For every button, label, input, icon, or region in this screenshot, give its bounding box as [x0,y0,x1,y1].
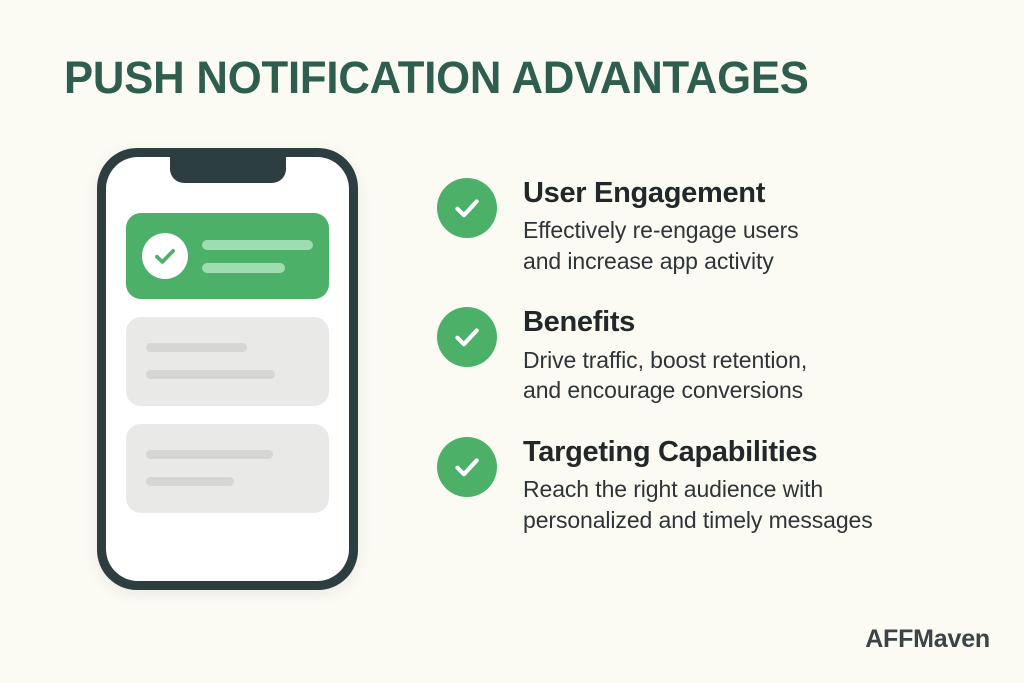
benefit-item: Targeting Capabilities Reach the right a… [437,435,982,535]
check-circle-icon [437,178,497,238]
benefit-item: User Engagement Effectively re-engage us… [437,176,982,276]
notification-card-placeholder [126,317,329,406]
check-circle-icon [437,307,497,367]
notification-line-1 [202,240,313,250]
phone-screen [106,157,349,581]
notification-card-highlighted [126,213,329,299]
benefit-description: Effectively re-engage users and increase… [523,215,799,276]
phone-notch [170,157,286,183]
benefit-text: User Engagement Effectively re-engage us… [523,176,799,276]
notification-line-2 [146,477,234,486]
benefits-list: User Engagement Effectively re-engage us… [437,176,982,535]
benefit-text: Benefits Drive traffic, boost retention,… [523,305,807,405]
benefit-title: Benefits [523,305,807,339]
phone-notification-list [106,157,349,581]
notification-line-1 [146,343,247,352]
notification-line-2 [146,370,275,379]
notification-line-1 [146,450,273,459]
benefit-text: Targeting Capabilities Reach the right a… [523,435,873,535]
benefit-title: User Engagement [523,176,799,210]
page-title: PUSH NOTIFICATION ADVANTAGES [64,52,809,104]
check-circle-icon [437,437,497,497]
benefit-description: Drive traffic, boost retention, and enco… [523,345,807,406]
benefit-description: Reach the right audience with personaliz… [523,474,873,535]
check-circle-icon [142,233,188,279]
notification-card-placeholder [126,424,329,513]
notification-text-lines [202,240,313,273]
brand-watermark: AFFMaven [865,625,990,654]
benefit-title: Targeting Capabilities [523,435,873,469]
notification-line-2 [202,263,285,273]
benefit-item: Benefits Drive traffic, boost retention,… [437,305,982,405]
phone-mockup [97,148,358,590]
